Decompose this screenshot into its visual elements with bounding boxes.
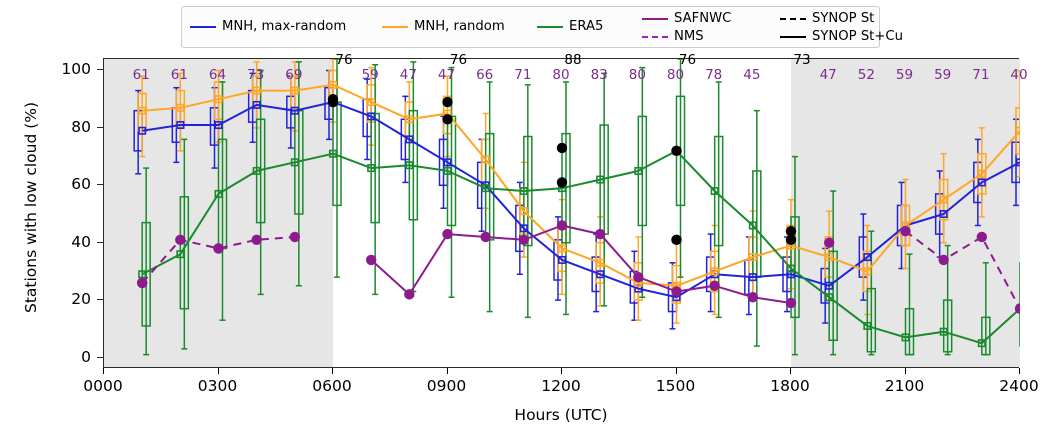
- annotation-safnwc-count-3: 64: [209, 67, 226, 83]
- annotation-synop-count-12: 88: [564, 52, 581, 68]
- annotation-safnwc-count-8: 47: [400, 67, 417, 83]
- annotation-safnwc-count-17: 45: [743, 67, 760, 83]
- x-tick-mark-0000: [103, 368, 104, 374]
- legend-label: MNH, max-random: [222, 20, 346, 33]
- legend-swatch-line: [780, 18, 806, 20]
- annotation-synop-count-9: 76: [450, 52, 467, 68]
- legend-label: ERA5: [569, 20, 603, 33]
- series-layer: [104, 59, 1020, 369]
- y-tick-mark-100: [97, 69, 103, 70]
- x-tick-label-1800: 1800: [755, 377, 825, 395]
- figure-root: MNH, max-randomMNH, randomERA5SAFNWCNMSS…: [0, 0, 1053, 437]
- annotation-safnwc-count-22: 59: [934, 67, 951, 83]
- annotation-safnwc-count-23: 71: [972, 67, 989, 83]
- series-safnwc: [137, 220, 796, 308]
- legend-item-era5[interactable]: ERA5: [537, 19, 603, 34]
- legend-item-synop-st-cu[interactable]: SYNOP St+Cu: [780, 29, 903, 44]
- errorbars-mnh-random: [138, 59, 1020, 323]
- annotation-safnwc-count-13: 83: [591, 67, 608, 83]
- legend-item-synop-st[interactable]: SYNOP St: [780, 11, 874, 26]
- annotation-safnwc-count-2: 61: [171, 67, 188, 83]
- x-tick-label-0600: 0600: [297, 377, 367, 395]
- x-tick-label-1500: 1500: [641, 377, 711, 395]
- series-mnh-max-random: [139, 99, 1020, 301]
- legend-item-nms[interactable]: NMS: [642, 29, 704, 44]
- chart-legend: MNH, max-randomMNH, randomERA5SAFNWCNMSS…: [181, 6, 880, 48]
- legend-label: SYNOP St+Cu: [812, 30, 903, 43]
- annotation-synop-count-15: 76: [679, 52, 696, 68]
- x-tick-mark-1800: [790, 368, 791, 374]
- x-tick-mark-0900: [447, 368, 448, 374]
- x-tick-label-2400: 2400: [984, 377, 1053, 395]
- x-tick-label-2100: 2100: [870, 377, 940, 395]
- errorbars-mnh-max-random: [134, 70, 1020, 328]
- x-axis-label: Hours (UTC): [514, 406, 607, 424]
- x-tick-mark-1500: [676, 368, 677, 374]
- legend-swatch-line: [780, 36, 806, 38]
- x-tick-mark-1200: [561, 368, 562, 374]
- y-tick-label-20: 20: [51, 290, 91, 308]
- x-tick-mark-2400: [1019, 368, 1020, 374]
- y-tick-mark-60: [97, 184, 103, 185]
- legend-item-mnh-max-random[interactable]: MNH, max-random: [190, 19, 346, 34]
- errorbars-era5: [142, 59, 1020, 355]
- legend-swatch-line: [190, 26, 216, 28]
- annotation-safnwc-count-11: 71: [514, 67, 531, 83]
- y-axis-label: Stations with low cloud (%): [22, 102, 40, 313]
- y-tick-mark-40: [97, 242, 103, 243]
- annotation-safnwc-count-16: 78: [705, 67, 722, 83]
- annotation-safnwc-count-10: 66: [476, 67, 493, 83]
- annotation-safnwc-count-9: 47: [438, 67, 455, 83]
- x-tick-label-1200: 1200: [526, 377, 596, 395]
- legend-label: SAFNWC: [674, 12, 731, 25]
- y-tick-label-100: 100: [51, 60, 91, 78]
- x-tick-label-0000: 0000: [68, 377, 138, 395]
- series-mnh-random: [139, 82, 1020, 289]
- annotation-safnwc-count-21: 59: [896, 67, 913, 83]
- legend-swatch-line: [642, 36, 668, 38]
- annotation-safnwc-count-14: 80: [629, 67, 646, 83]
- y-tick-mark-20: [97, 299, 103, 300]
- legend-swatch-line: [642, 18, 668, 20]
- x-tick-label-0300: 0300: [183, 377, 253, 395]
- annotation-safnwc-count-5: 69: [285, 67, 302, 83]
- annotation-safnwc-count-15: 80: [667, 67, 684, 83]
- plot-area: [103, 58, 1019, 368]
- legend-label: NMS: [674, 30, 704, 43]
- annotation-safnwc-count-7: 59: [362, 67, 379, 83]
- annotation-safnwc-count-4: 73: [247, 67, 264, 83]
- x-tick-mark-0600: [332, 368, 333, 374]
- annotation-safnwc-count-20: 52: [858, 67, 875, 83]
- y-tick-label-60: 60: [51, 175, 91, 193]
- annotation-synop-count-6: 76: [335, 52, 352, 68]
- y-tick-mark-80: [97, 127, 103, 128]
- annotation-safnwc-count-24: 40: [1010, 67, 1027, 83]
- x-tick-mark-2100: [905, 368, 906, 374]
- annotation-safnwc-count-12: 80: [552, 67, 569, 83]
- annotation-safnwc-count-1: 61: [133, 67, 150, 83]
- legend-label: SYNOP St: [812, 12, 874, 25]
- legend-swatch-line: [382, 26, 408, 28]
- y-tick-mark-0: [97, 357, 103, 358]
- y-tick-label-0: 0: [51, 348, 91, 366]
- y-tick-label-40: 40: [51, 233, 91, 251]
- legend-item-safnwc[interactable]: SAFNWC: [642, 11, 731, 26]
- legend-item-mnh-random[interactable]: MNH, random: [382, 19, 505, 34]
- x-tick-mark-0300: [218, 368, 219, 374]
- legend-label: MNH, random: [414, 20, 505, 33]
- y-tick-label-80: 80: [51, 118, 91, 136]
- annotation-synop-count-18: 73: [793, 52, 810, 68]
- annotation-safnwc-count-19: 47: [820, 67, 837, 83]
- x-tick-label-0900: 0900: [412, 377, 482, 395]
- legend-swatch-line: [537, 26, 563, 28]
